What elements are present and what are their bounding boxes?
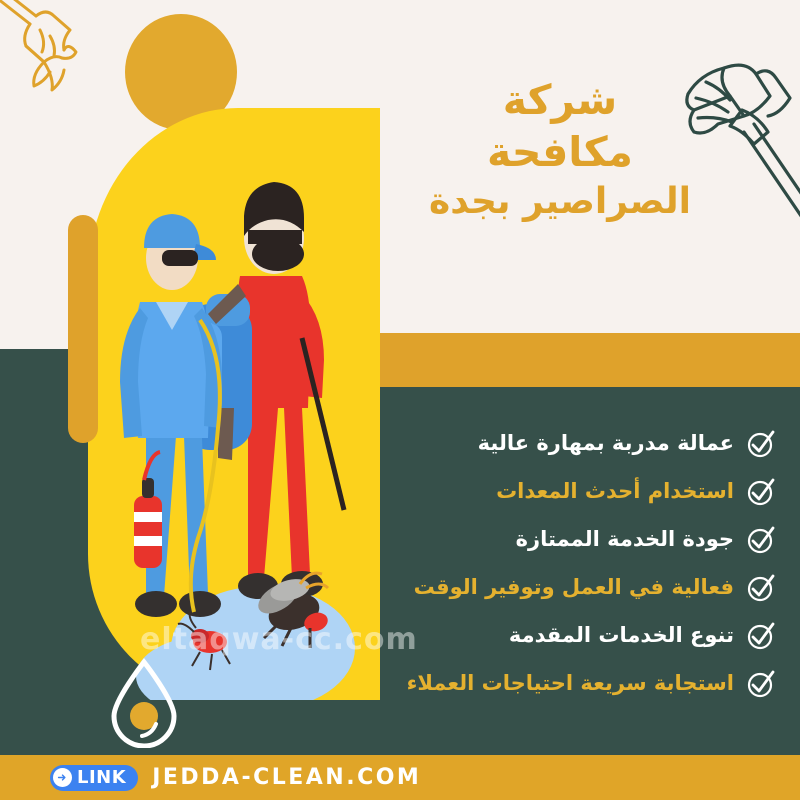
feature-item: استجابة سريعة احتياجات العملاء [276,660,776,708]
feature-label: فعالية في العمل وتوفير الوقت [414,576,734,599]
check-circle-icon [746,573,776,603]
feature-label: استجابة سريعة احتياجات العملاء [407,672,734,695]
feature-label: استخدام أحدث المعدات [496,480,734,503]
site-url-text[interactable]: JEDDA-CLEAN.COM [152,765,421,790]
feature-label: عمالة مدربة بمهارة عالية [478,432,734,455]
link-badge[interactable]: LINK [50,765,138,791]
feature-item: استخدام أحدث المعدات [276,468,776,516]
features-list: عمالة مدربة بمهارة عالية استخدام أحدث ال… [276,420,776,708]
water-drop-icon [106,656,182,748]
link-badge-label: LINK [77,767,126,788]
poster-canvas: eltaqwa-cc.com [0,0,800,800]
check-circle-icon [746,621,776,651]
title-line-3: الصراصير بجدة [350,179,770,225]
gold-divider-band [380,333,800,387]
feature-item: فعالية في العمل وتوفير الوقت [276,564,776,612]
footer-content: LINK JEDDA-CLEAN.COM [0,755,800,800]
arrow-right-icon [53,768,72,787]
check-circle-icon [746,669,776,699]
title-line-1: شركة [350,74,770,126]
broom-icon-top-left [0,0,118,104]
feature-item: جودة الخدمة الممتازة [276,516,776,564]
feature-label: تنوع الخدمات المقدمة [509,624,734,647]
feature-item: عمالة مدربة بمهارة عالية [276,420,776,468]
feature-label: جودة الخدمة الممتازة [516,528,734,551]
feature-item: تنوع الخدمات المقدمة [276,612,776,660]
check-circle-icon [746,429,776,459]
title-line-2: مكافحة [350,126,770,178]
check-circle-icon [746,477,776,507]
check-circle-icon [746,525,776,555]
poster-title: شركة مكافحة الصراصير بجدة [350,74,770,225]
